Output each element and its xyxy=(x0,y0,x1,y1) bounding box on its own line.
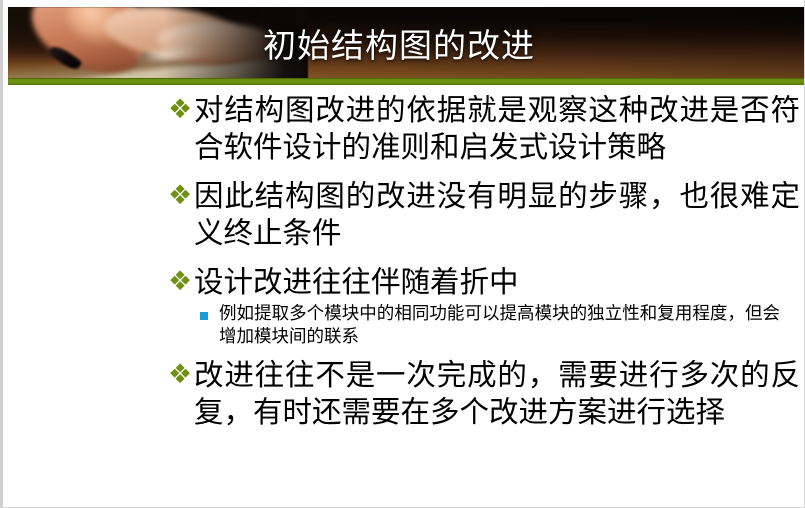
diamond-bullet-icon: ❖ xyxy=(168,264,194,300)
bullet-text: 对结构图改进的依据就是观察这种改进是否符合软件设计的准则和启发式设计策略 xyxy=(194,92,800,166)
bullet-item: ❖ 改进往往不是一次完成的，需要进行多次的反复，有时还需要在多个改进方案进行选择 xyxy=(3,357,805,431)
bullet-text: 因此结构图的改进没有明显的步骤，也很难定义终止条件 xyxy=(194,178,800,252)
bullet-item: ❖ 因此结构图的改进没有明显的步骤，也很难定义终止条件 xyxy=(3,178,805,252)
bullet-text: 改进往往不是一次完成的，需要进行多次的反复，有时还需要在多个改进方案进行选择 xyxy=(194,357,800,431)
diamond-bullet-icon: ❖ xyxy=(168,357,194,393)
slide: 初始结构图的改进 ❖ 对结构图改进的依据就是观察这种改进是否符合软件设计的准则和… xyxy=(0,0,805,508)
square-bullet-icon xyxy=(200,303,219,320)
sub-bullet-text: 例如提取多个模块中的相同功能可以提高模块的独立性和复用程度，但会增加模块间的联系 xyxy=(219,303,780,349)
bullet-item: ❖ 设计改进往往伴随着折中 xyxy=(3,264,805,301)
bullet-text: 设计改进往往伴随着折中 xyxy=(194,264,800,301)
header-accent-rule xyxy=(8,78,805,85)
slide-header-banner: 初始结构图的改进 xyxy=(8,7,805,85)
bullet-item: ❖ 对结构图改进的依据就是观察这种改进是否符合软件设计的准则和启发式设计策略 xyxy=(3,92,805,166)
diamond-bullet-icon: ❖ xyxy=(168,92,194,128)
slide-title: 初始结构图的改进 xyxy=(8,7,805,78)
slide-body: ❖ 对结构图改进的依据就是观察这种改进是否符合软件设计的准则和启发式设计策略 ❖… xyxy=(3,92,805,441)
diamond-bullet-icon: ❖ xyxy=(168,178,194,214)
sub-bullet-item: 例如提取多个模块中的相同功能可以提高模块的独立性和复用程度，但会增加模块间的联系 xyxy=(3,303,805,349)
